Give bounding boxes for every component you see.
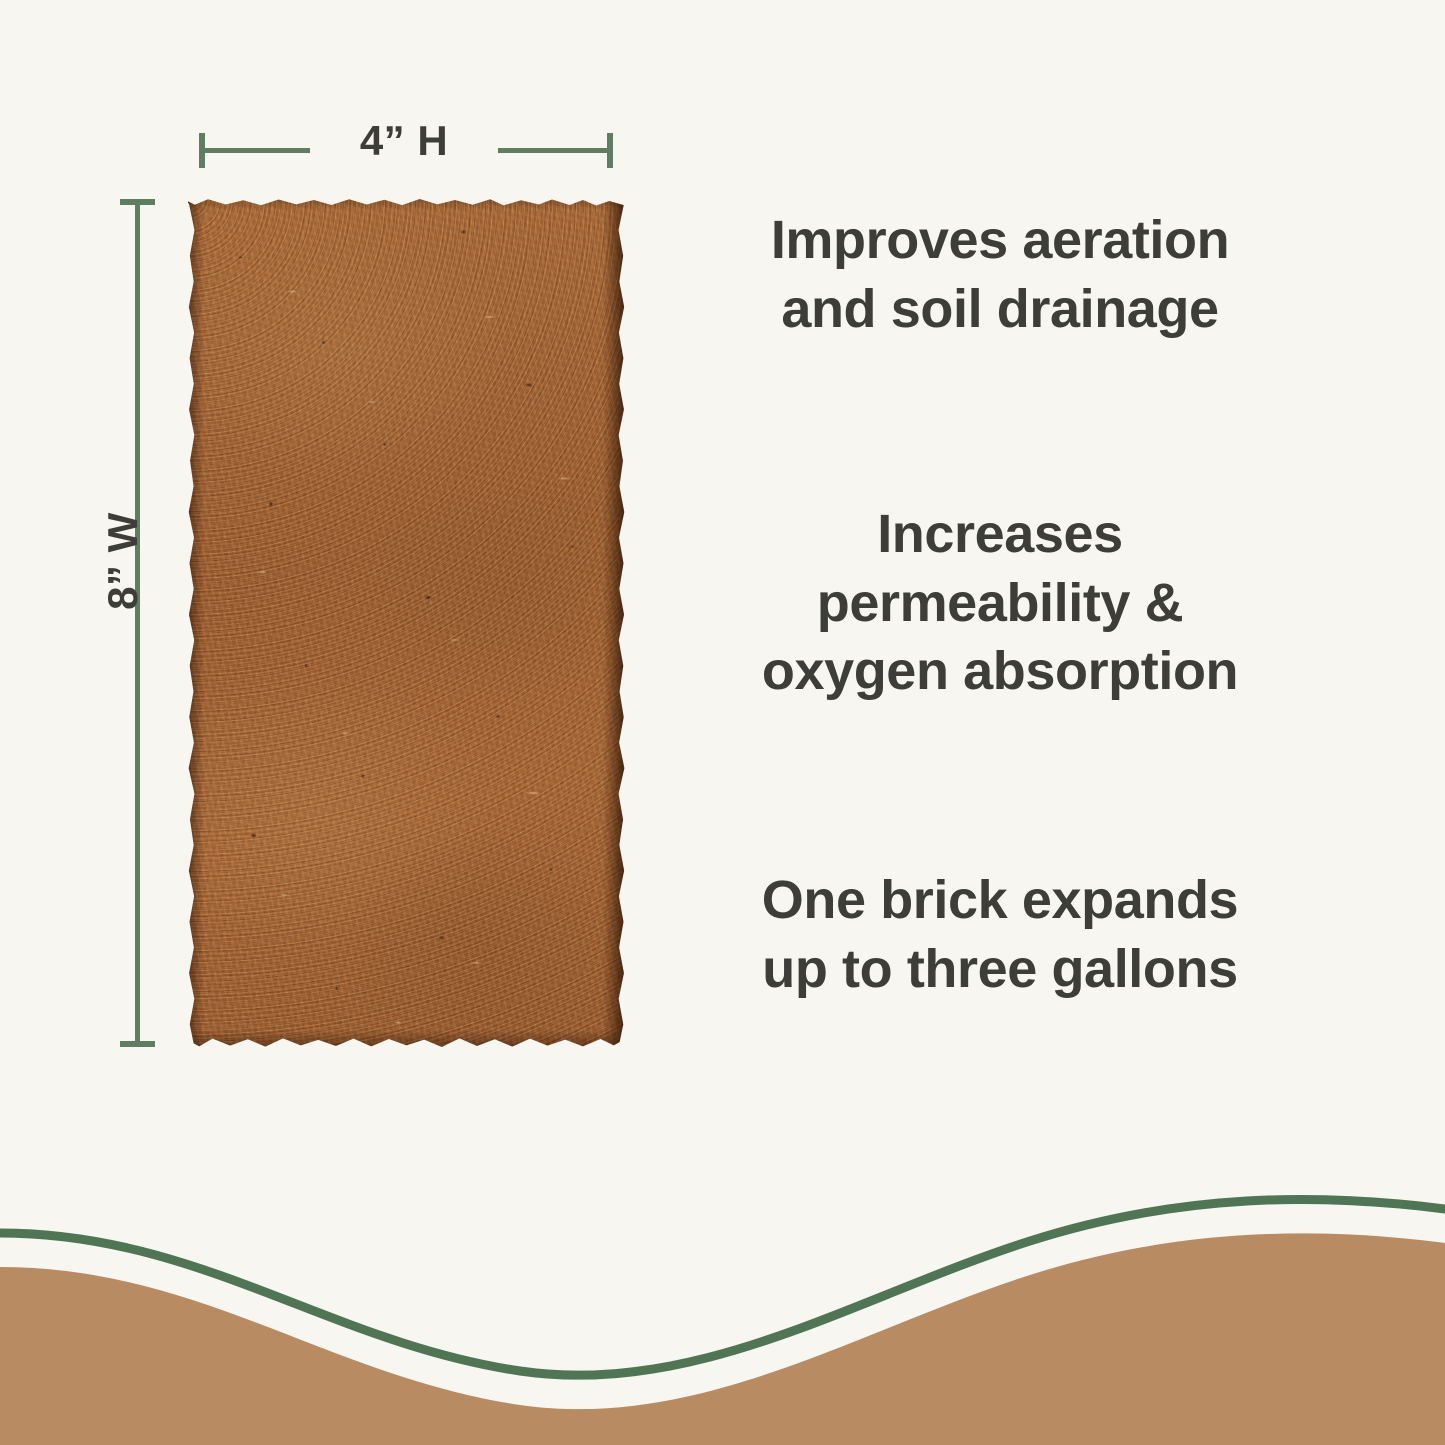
benefit-line: permeability & [700, 569, 1300, 638]
benefit-text-aeration: Improves aeration and soil drainage [700, 206, 1300, 343]
infographic-canvas: 4” H 8” W Improves aeration and soil dra… [0, 0, 1445, 1445]
bottom-wave-divider [0, 1115, 1445, 1445]
top-dimension-label: 4” H [310, 120, 498, 162]
wave-tan-fill [0, 1233, 1445, 1445]
top-dimension-cap-right [607, 133, 613, 168]
benefit-line: Improves aeration [700, 206, 1300, 275]
left-dimension-label: 8” W [102, 431, 144, 691]
benefit-line: up to three gallons [690, 935, 1310, 1004]
benefit-text-expansion: One brick expands up to three gallons [690, 866, 1310, 1003]
benefit-text-permeability: Increases permeability & oxygen absorpti… [700, 500, 1300, 706]
benefit-line: One brick expands [690, 866, 1310, 935]
benefit-line: and soil drainage [700, 275, 1300, 344]
top-dimension-line-left [200, 148, 310, 153]
benefit-line: Increases [700, 500, 1300, 569]
coir-brick-image [188, 198, 625, 1048]
benefit-line: oxygen absorption [700, 637, 1300, 706]
top-dimension-line-right [498, 148, 612, 153]
coir-brick-texture [188, 198, 625, 1048]
left-dimension-cap-bottom [120, 1041, 155, 1047]
